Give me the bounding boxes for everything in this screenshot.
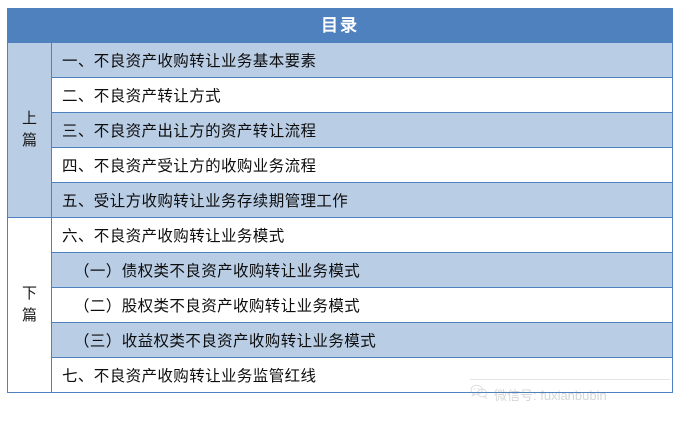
toc-entry-6[interactable]: 六、不良资产收购转让业务模式 <box>52 218 673 253</box>
table-row[interactable]: （一）债权类不良资产收购转让业务模式 <box>8 253 673 288</box>
toc-entry-3[interactable]: 三、不良资产出让方的资产转让流程 <box>52 113 673 148</box>
toc-entry-9[interactable]: （三）收益权类不良资产收购转让业务模式 <box>52 323 673 358</box>
table-row[interactable]: 下 篇 六、不良资产收购转让业务模式 <box>8 218 673 253</box>
part-label-upper-char-1: 上 <box>8 108 51 131</box>
toc-entry-2[interactable]: 二、不良资产转让方式 <box>52 78 673 113</box>
part-label-upper: 上 篇 <box>8 43 52 218</box>
toc-entry-5[interactable]: 五、受让方收购转让业务存续期管理工作 <box>52 183 673 218</box>
part-label-upper-char-2: 篇 <box>8 130 51 153</box>
table-row[interactable]: （三）收益权类不良资产收购转让业务模式 <box>8 323 673 358</box>
part-label-lower: 下 篇 <box>8 218 52 393</box>
table-row[interactable]: 七、不良资产收购转让业务监管红线 <box>8 358 673 393</box>
toc-entry-7[interactable]: （一）债权类不良资产收购转让业务模式 <box>52 253 673 288</box>
table-row[interactable]: 四、不良资产受让方的收购业务流程 <box>8 148 673 183</box>
table-of-contents: 目录 上 篇 一、不良资产收购转让业务基本要素 二、不良资产转让方式 三、不良资… <box>7 8 672 393</box>
table-row[interactable]: 上 篇 一、不良资产收购转让业务基本要素 <box>8 43 673 78</box>
table-row[interactable]: 二、不良资产转让方式 <box>8 78 673 113</box>
page-title: 目录 <box>8 9 673 43</box>
toc-entry-8[interactable]: （二）股权类不良资产收购转让业务模式 <box>52 288 673 323</box>
toc-header-row: 目录 <box>8 9 673 43</box>
part-label-lower-char-2: 篇 <box>8 305 51 328</box>
toc-entry-4[interactable]: 四、不良资产受让方的收购业务流程 <box>52 148 673 183</box>
toc-body: 上 篇 一、不良资产收购转让业务基本要素 二、不良资产转让方式 三、不良资产出让… <box>8 43 673 393</box>
toc-table: 目录 上 篇 一、不良资产收购转让业务基本要素 二、不良资产转让方式 三、不良资… <box>7 8 673 393</box>
toc-entry-1[interactable]: 一、不良资产收购转让业务基本要素 <box>52 43 673 78</box>
table-row[interactable]: 五、受让方收购转让业务存续期管理工作 <box>8 183 673 218</box>
table-row[interactable]: 三、不良资产出让方的资产转让流程 <box>8 113 673 148</box>
toc-entry-10[interactable]: 七、不良资产收购转让业务监管红线 <box>52 358 673 393</box>
part-label-lower-char-1: 下 <box>8 283 51 306</box>
table-row[interactable]: （二）股权类不良资产收购转让业务模式 <box>8 288 673 323</box>
